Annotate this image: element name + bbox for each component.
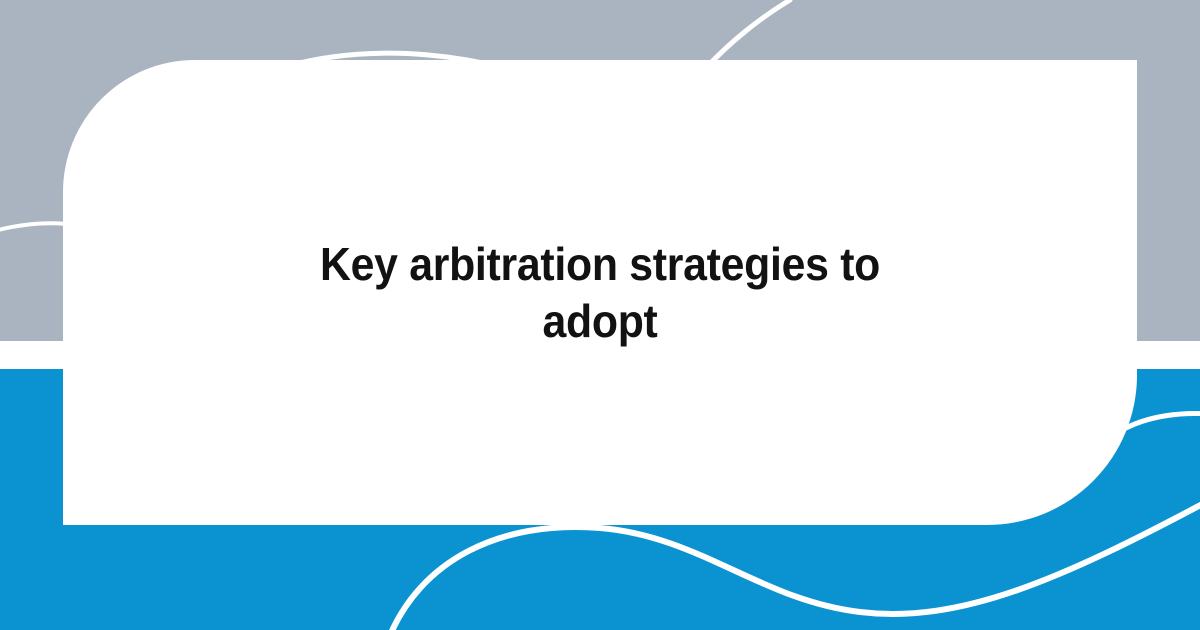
social-share-banner: Key arbitration strategies to adopt bbox=[0, 0, 1200, 630]
page-title: Key arbitration strategies to adopt bbox=[293, 236, 907, 348]
content-card: Key arbitration strategies to adopt bbox=[63, 60, 1137, 525]
